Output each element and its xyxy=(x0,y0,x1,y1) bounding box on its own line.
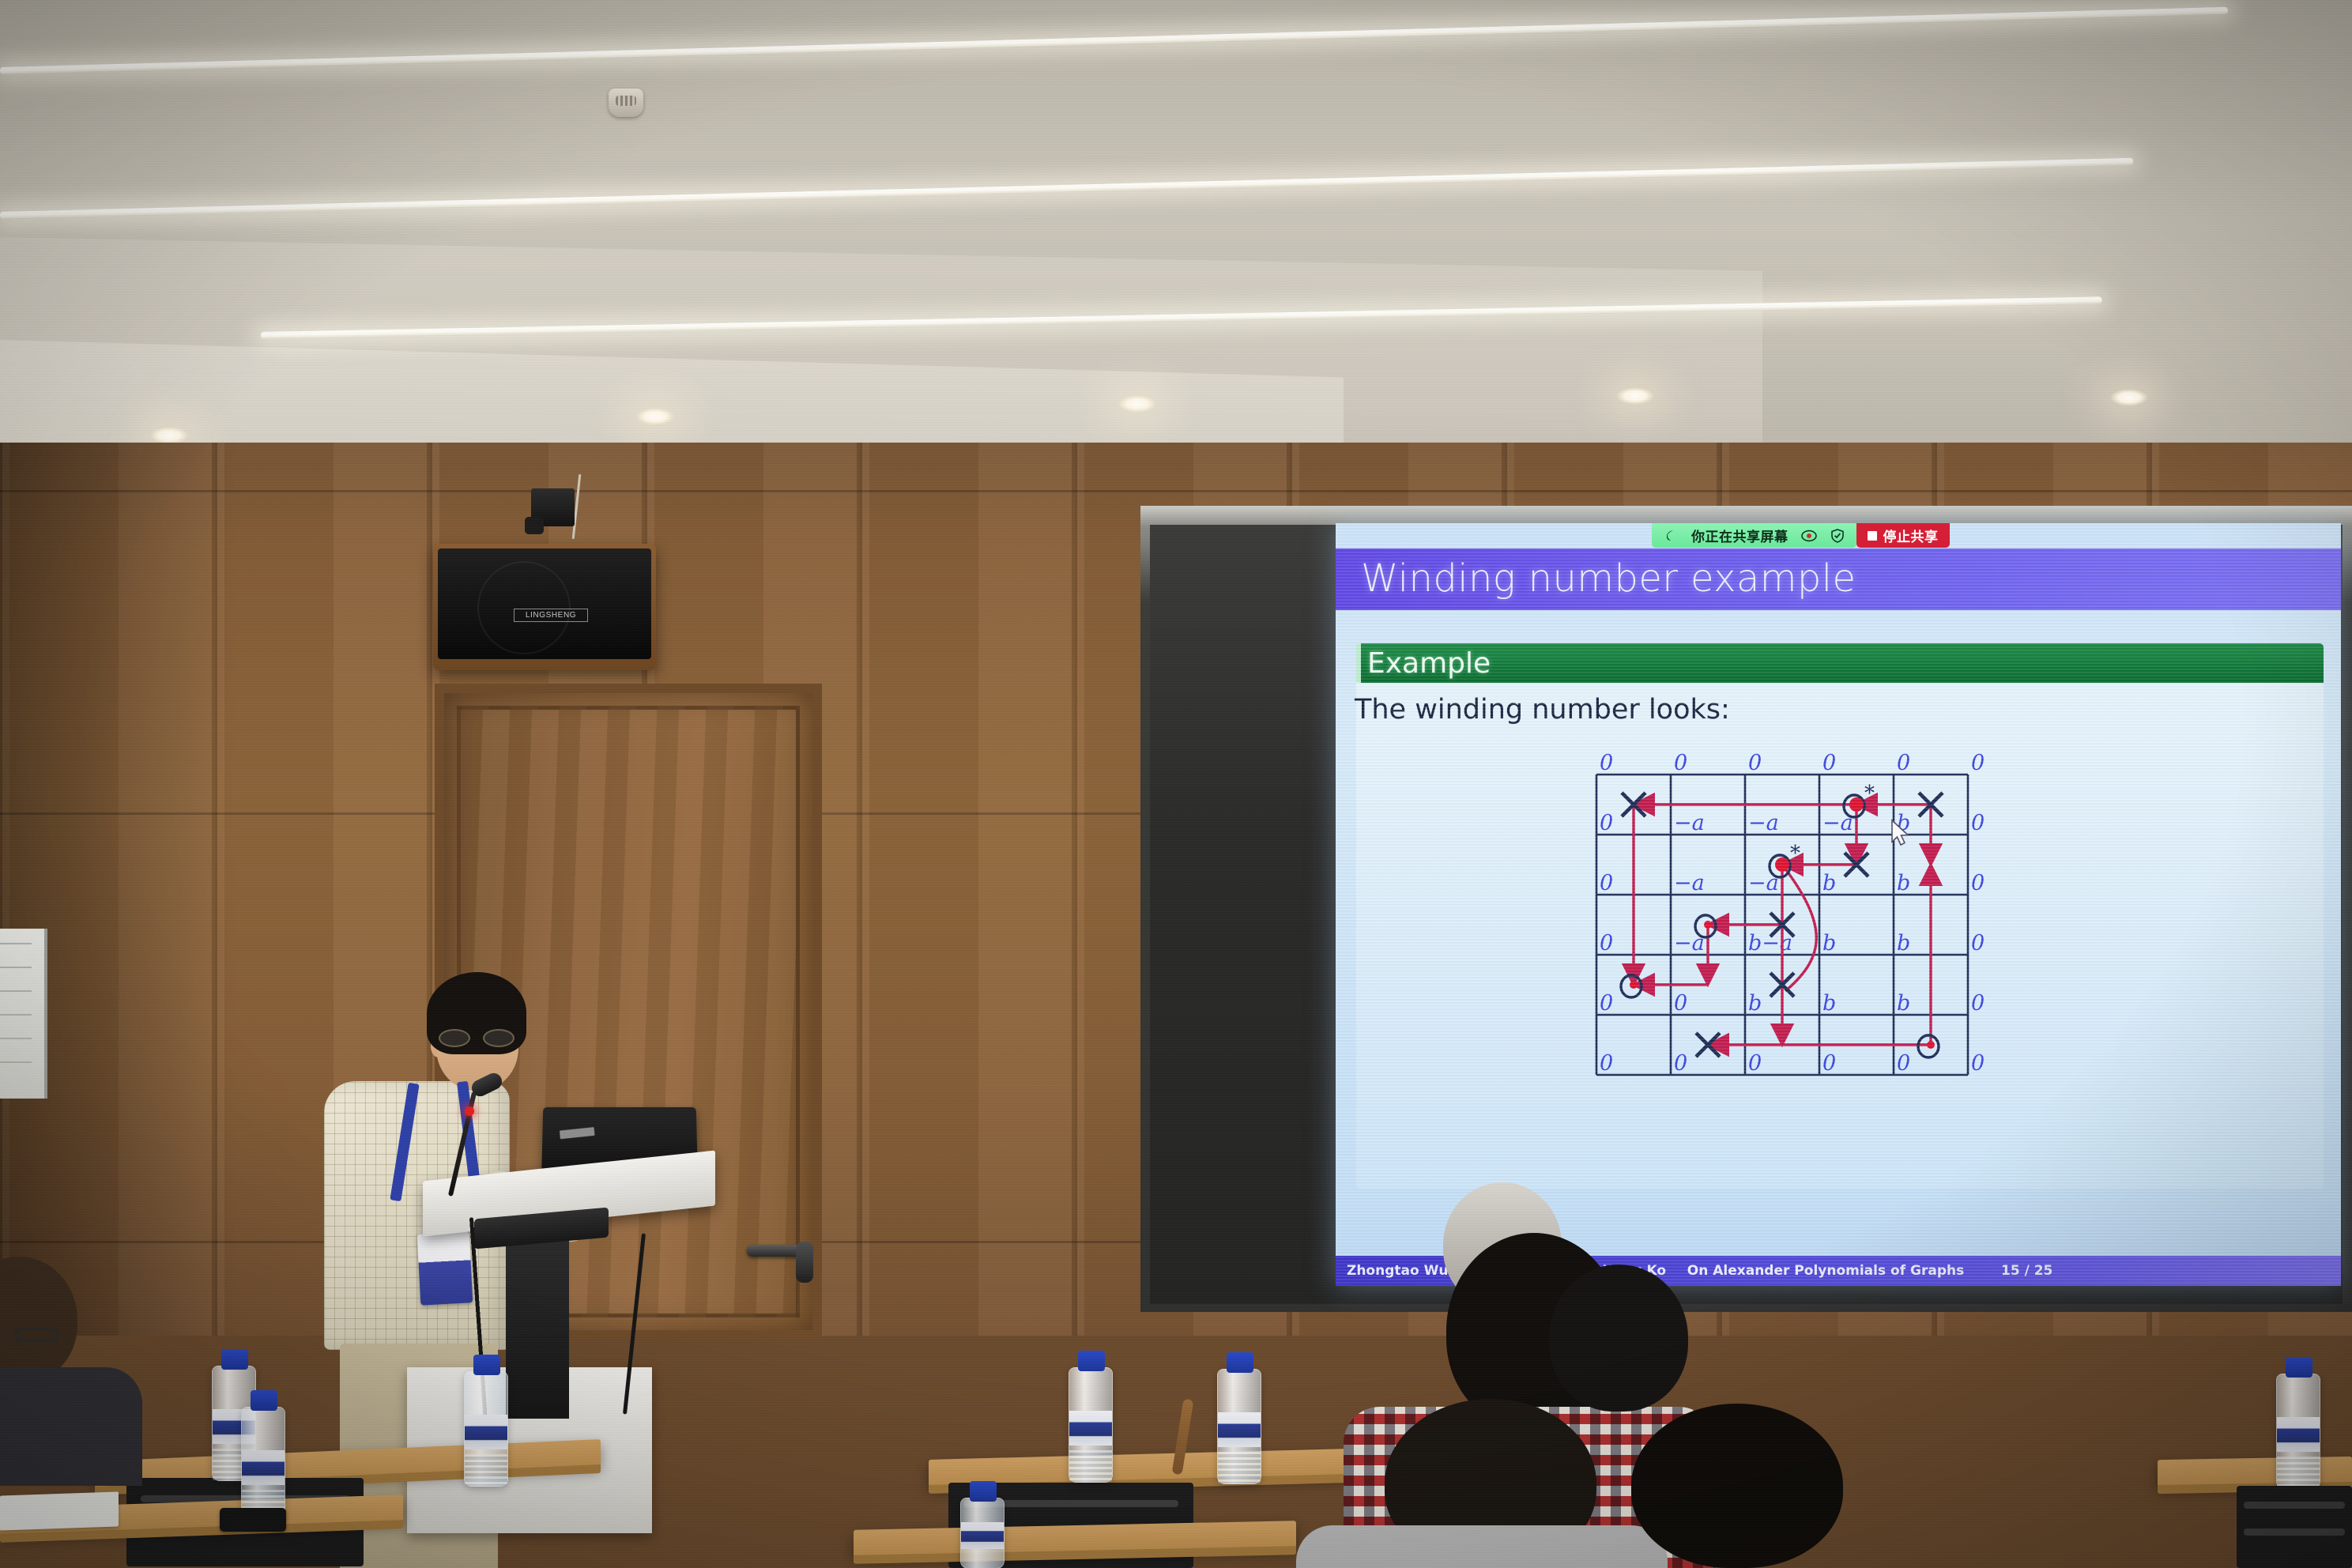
screen-share-banner[interactable]: 你正在共享屏幕 停止共享 xyxy=(1652,523,1950,548)
footer-author-text: Zhongtao Wu xyxy=(1347,1263,1448,1279)
footer-page-number: 15 / 25 xyxy=(1984,1256,2341,1286)
grid-label: b xyxy=(1897,871,1910,895)
grid-label: b xyxy=(1897,991,1910,1016)
camera-icon[interactable] xyxy=(1801,528,1817,544)
recessed-downlight xyxy=(636,408,674,425)
led-strip-light xyxy=(0,7,2228,74)
grid-label: −a xyxy=(1674,871,1705,895)
grid-label: 0 xyxy=(1600,811,1613,835)
grid-label: 0 xyxy=(1897,751,1910,775)
grid-marker-o xyxy=(1621,975,1641,997)
grid-label: 0 xyxy=(1971,751,1984,775)
grid-label: 0 xyxy=(1674,1051,1687,1076)
wall-seam xyxy=(0,490,2352,492)
water-bottle[interactable] xyxy=(1069,1367,1113,1483)
grid-label: b xyxy=(1822,991,1836,1016)
water-bottle[interactable] xyxy=(241,1407,285,1522)
whiteboard-edge xyxy=(0,929,47,1099)
lecture-hall-photo: LINGSHENG Winding number example 你正在共享屏幕 xyxy=(0,0,2352,1568)
example-block-header: Example xyxy=(1356,643,2324,683)
paper-sheet xyxy=(0,1491,119,1530)
grid-marker-o xyxy=(1918,1035,1939,1057)
led-strip-light xyxy=(0,158,2133,219)
slide-title: Winding number example xyxy=(1361,556,1856,601)
glasses-icon xyxy=(14,1328,58,1342)
speaker-brand-label: LINGSHENG xyxy=(514,609,588,622)
name-badge xyxy=(417,1231,473,1305)
grid-label: b xyxy=(1822,931,1836,955)
wall-camera-icon xyxy=(531,488,575,526)
glasses-icon xyxy=(439,1029,521,1048)
projected-slide: Winding number example 你正在共享屏幕 停止共享 xyxy=(1336,523,2341,1286)
grid-label: 0 xyxy=(1822,751,1836,775)
grid-label: b xyxy=(1822,871,1836,895)
grid-label: b xyxy=(1897,931,1910,955)
recessed-downlight xyxy=(1616,387,1654,405)
example-block-title: Example xyxy=(1356,647,1491,680)
footer-talk-title: On Alexander Polynomials of Graphs xyxy=(1668,1256,1984,1286)
pointer-icon xyxy=(1663,528,1679,544)
door-handle[interactable] xyxy=(747,1245,808,1257)
smoke-detector-icon xyxy=(609,89,643,117)
share-status-text: 你正在共享屏幕 xyxy=(1691,526,1788,545)
shield-icon[interactable] xyxy=(1830,528,1845,544)
grid-label: 0 xyxy=(1600,871,1613,895)
grid-label: 0 xyxy=(1600,931,1613,955)
grid-label: 0 xyxy=(1971,871,1984,895)
wall-shadow-left xyxy=(0,443,237,1336)
audience-shoulders xyxy=(1296,1525,1668,1568)
table-row xyxy=(854,1521,1296,1557)
laptop-logo xyxy=(560,1127,595,1139)
grid-label: 0 xyxy=(1600,991,1613,1016)
grid-label: 0 xyxy=(1897,1051,1910,1076)
grid-label: −a xyxy=(1674,811,1705,835)
ceiling xyxy=(0,0,2352,474)
grid-marker-o xyxy=(1695,915,1716,937)
grid-label: 0 xyxy=(1600,1051,1613,1076)
smartphone[interactable] xyxy=(220,1508,286,1532)
grid-label: 0 xyxy=(1674,991,1687,1016)
grid-label: −a xyxy=(1748,811,1779,835)
grid-label: 0 xyxy=(1674,751,1687,775)
audience-head xyxy=(1631,1404,1843,1568)
grid-label: 0 xyxy=(1971,931,1984,955)
table-row xyxy=(2158,1457,2352,1487)
grid-label: 0 xyxy=(1971,991,1984,1016)
stop-sharing-button[interactable]: 停止共享 xyxy=(1856,523,1950,548)
water-bottle[interactable] xyxy=(1217,1369,1261,1484)
recessed-downlight xyxy=(2110,389,2148,406)
stop-sharing-label: 停止共享 xyxy=(1883,526,1939,545)
audience-shoulders xyxy=(0,1367,142,1486)
water-bottle[interactable] xyxy=(2276,1374,2320,1489)
example-body-text: The winding number looks: xyxy=(1355,694,1730,726)
speaker-grille: LINGSHENG xyxy=(438,548,651,659)
recessed-downlight xyxy=(150,427,188,444)
wall-speaker: LINGSHENG xyxy=(433,544,656,670)
grid-diagram-svg: 0000000−a−a−ab00−a−abb00−ab−abb000bbb000… xyxy=(1573,751,2079,1146)
grid-label: 0 xyxy=(1748,1051,1762,1076)
water-bottle[interactable] xyxy=(464,1371,508,1487)
svg-text:*: * xyxy=(1864,782,1875,805)
recessed-downlight xyxy=(1118,395,1156,413)
grid-label: 0 xyxy=(1971,1051,1984,1076)
grid-label: 0 xyxy=(1822,1051,1836,1076)
audience-head xyxy=(1549,1265,1688,1412)
water-bottle[interactable] xyxy=(960,1498,1004,1568)
stop-square-icon xyxy=(1868,531,1877,541)
svg-text:*: * xyxy=(1790,842,1800,865)
share-status-group: 你正在共享屏幕 xyxy=(1652,523,1856,548)
grid-diagram: 0000000−a−a−ab00−a−abb00−ab−abb000bbb000… xyxy=(1573,751,2079,1146)
grid-label: b xyxy=(1748,991,1762,1016)
grid-label: 0 xyxy=(1971,811,1984,835)
chair[interactable] xyxy=(2237,1486,2352,1568)
grid-label: 0 xyxy=(1748,751,1762,775)
podium-column xyxy=(506,1221,569,1419)
grid-label: 0 xyxy=(1600,751,1613,775)
speaker-cone xyxy=(477,561,571,654)
microphone-led-icon xyxy=(465,1106,474,1116)
